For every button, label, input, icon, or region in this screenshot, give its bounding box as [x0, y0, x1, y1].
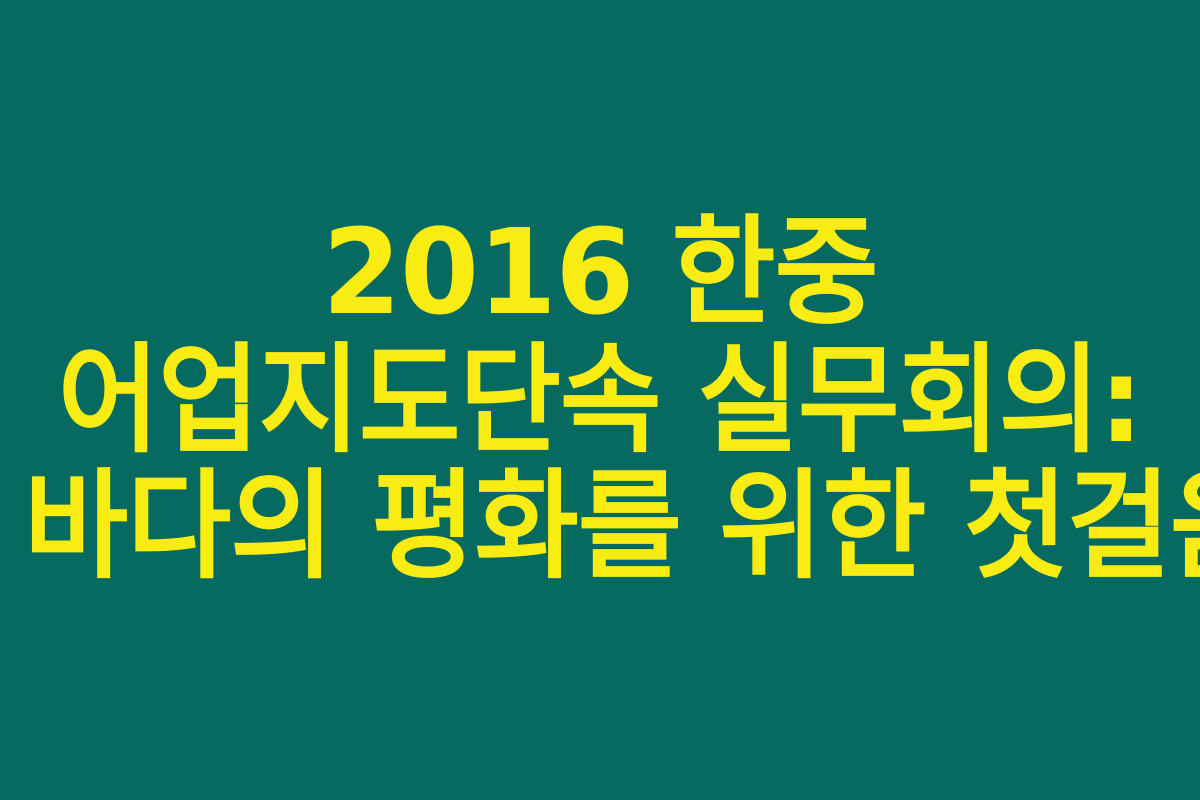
title-line-2: 어업지도단속 실무회의:	[39, 339, 1161, 461]
title-line-1: 2016 한중	[24, 209, 1176, 335]
title-line-3: 바다의 평화를 위한 첫걸음	[24, 465, 1176, 587]
poster-canvas: 2016 한중 어업지도단속 실무회의: 바다의 평화를 위한 첫걸음	[0, 0, 1200, 800]
title-block: 2016 한중 어업지도단속 실무회의: 바다의 평화를 위한 첫걸음	[0, 209, 1200, 587]
